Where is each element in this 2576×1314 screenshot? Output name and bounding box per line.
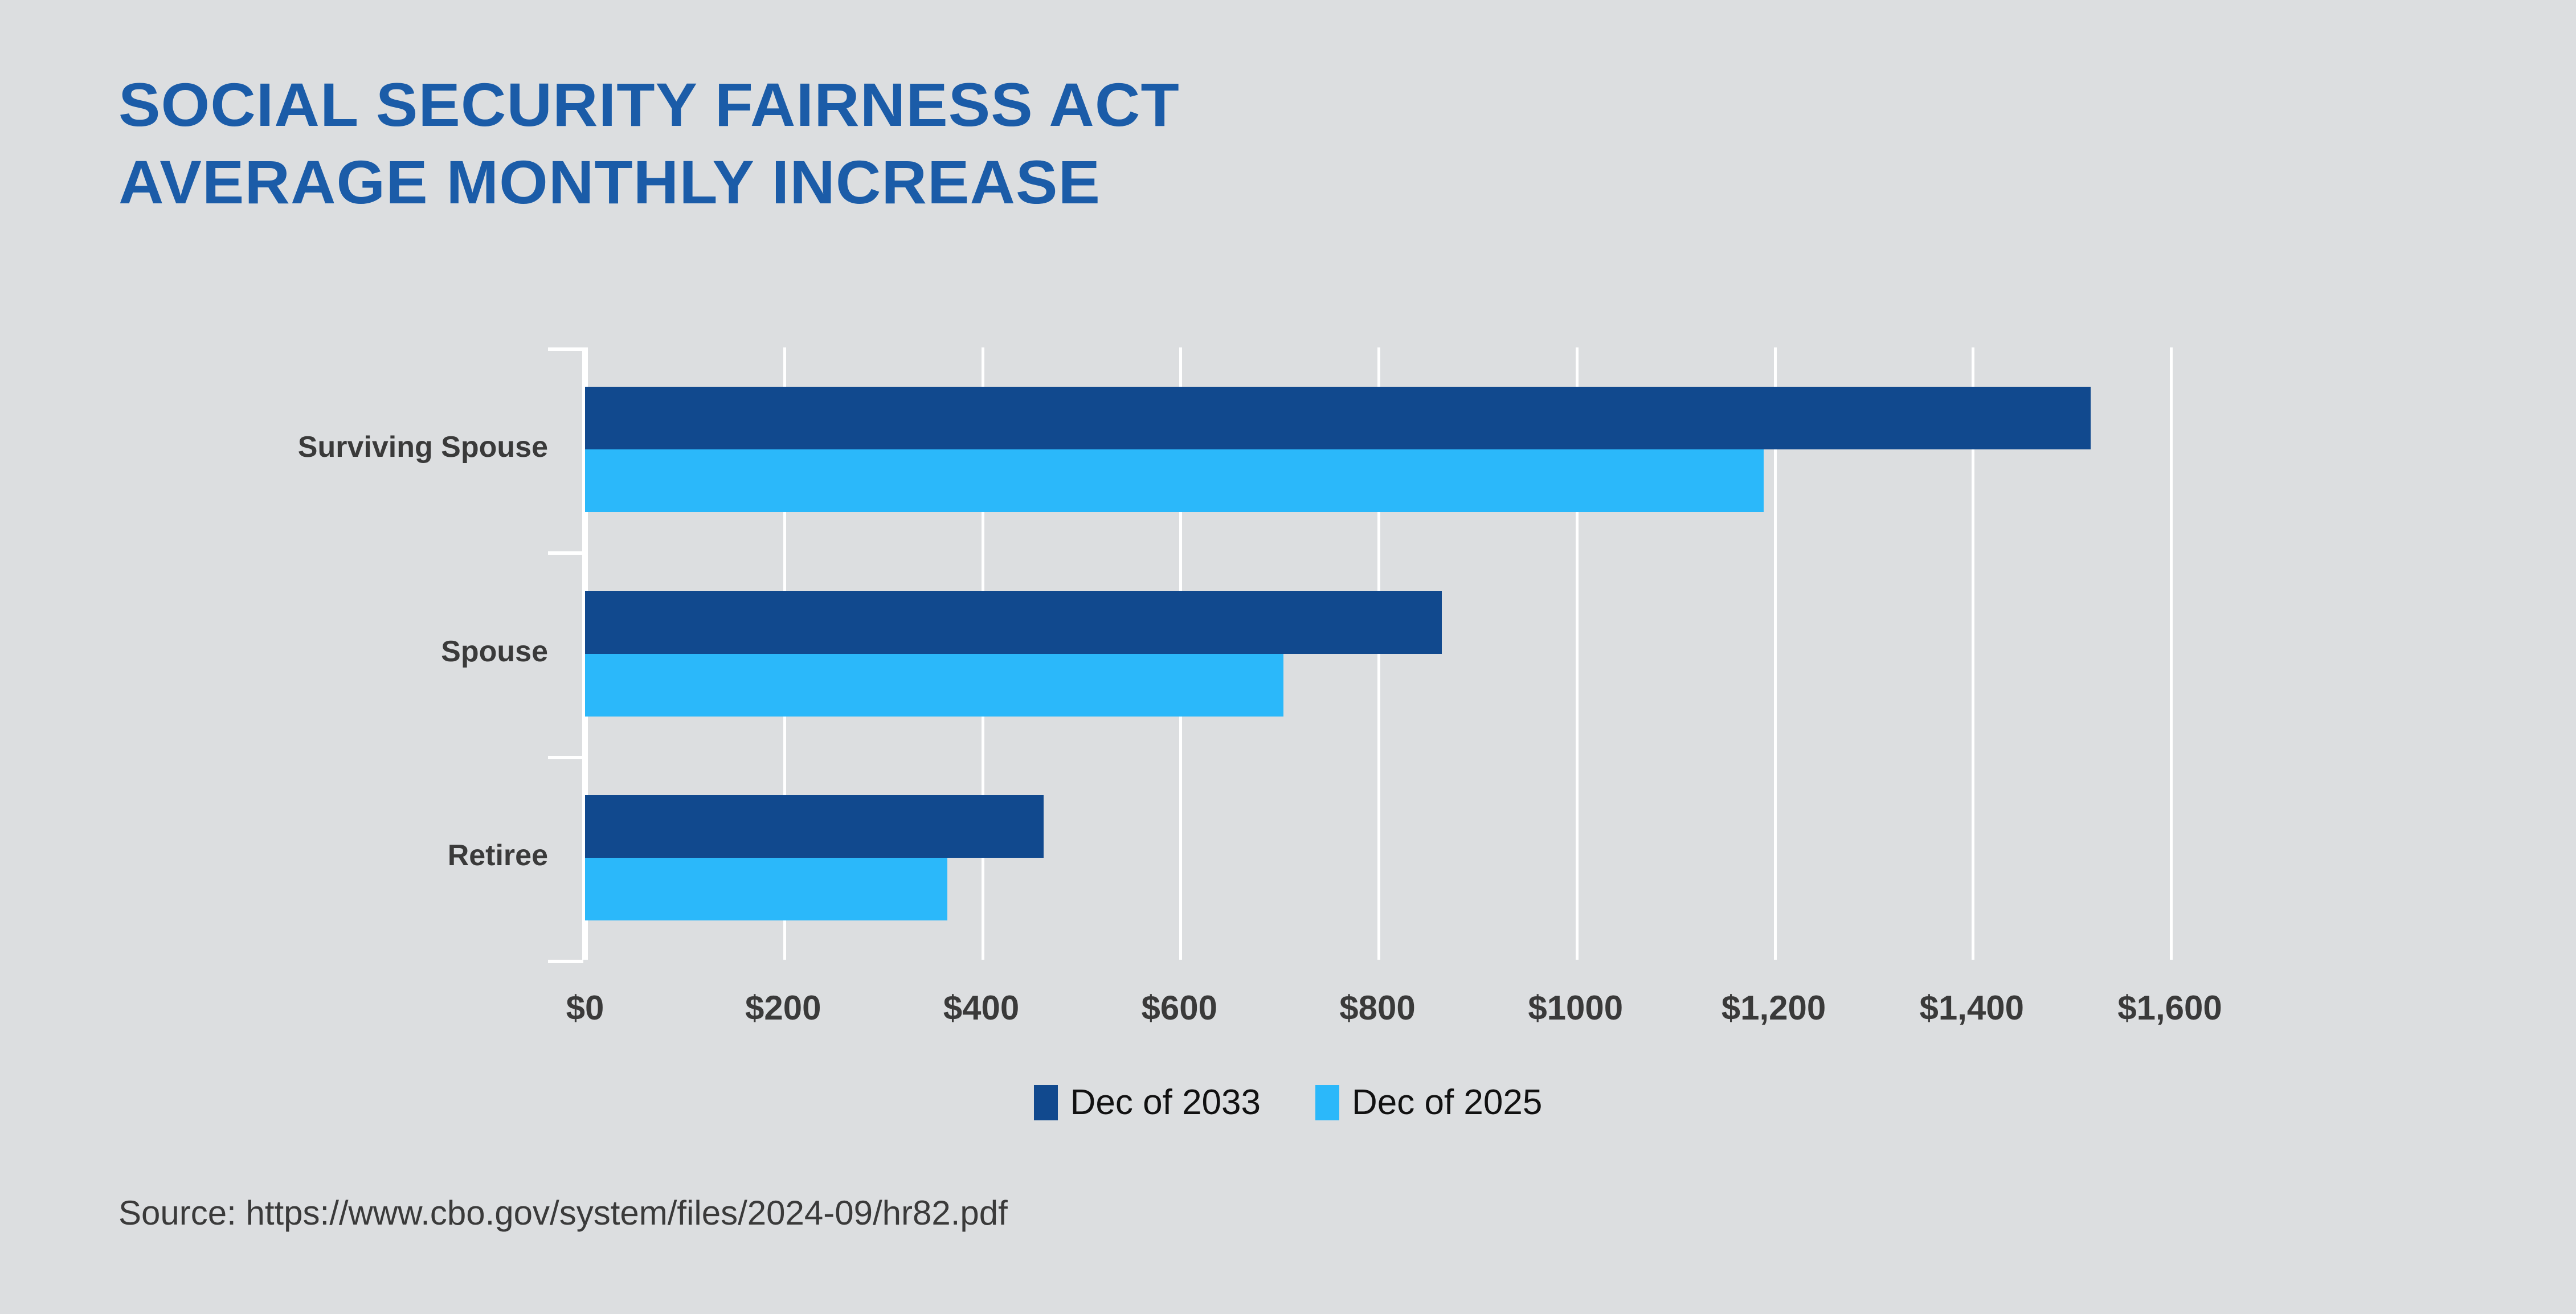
axis-tick-1 <box>548 551 583 555</box>
category-label-retiree: Retiree <box>0 838 548 873</box>
bar-spouse-dec-of-2033 <box>585 591 1442 654</box>
bar-retiree-dec-of-2025 <box>585 858 947 920</box>
legend-item-dec-of-2033[interactable]: Dec of 2033 <box>1034 1082 1261 1123</box>
x-tick-label-400: $400 <box>868 988 1095 1028</box>
axis-tick-3 <box>548 960 583 963</box>
x-tick-label-0: $0 <box>471 988 699 1028</box>
bar-surviving-spouse-dec-of-2025 <box>585 449 1764 512</box>
bar-chart: Surviving SpouseSpouseRetiree $0$200$400… <box>0 0 2576 1314</box>
gridline-1600 <box>2170 347 2173 960</box>
chart-legend: Dec of 2033Dec of 2025 <box>0 1082 2576 1123</box>
category-label-surviving-spouse: Surviving Spouse <box>0 430 548 464</box>
legend-swatch-icon-dark-blue <box>1034 1085 1058 1120</box>
legend-label: Dec of 2025 <box>1352 1082 1542 1123</box>
x-tick-label-1000: $1000 <box>1462 988 1690 1028</box>
bar-spouse-dec-of-2025 <box>585 654 1283 717</box>
x-tick-label-1400: $1,400 <box>1858 988 2086 1028</box>
bar-surviving-spouse-dec-of-2033 <box>585 387 2091 449</box>
bar-retiree-dec-of-2033 <box>585 795 1044 858</box>
x-tick-label-800: $800 <box>1264 988 1491 1028</box>
legend-label: Dec of 2033 <box>1070 1082 1261 1123</box>
x-tick-label-1600: $1,600 <box>2056 988 2284 1028</box>
axis-tick-0 <box>548 347 583 351</box>
x-tick-label-200: $200 <box>669 988 897 1028</box>
x-tick-label-1200: $1,200 <box>1660 988 1888 1028</box>
x-tick-label-600: $600 <box>1065 988 1293 1028</box>
source-note: Source: https://www.cbo.gov/system/files… <box>118 1193 1008 1233</box>
chart-page: SOCIAL SECURITY FAIRNESS ACT AVERAGE MON… <box>0 0 2576 1314</box>
category-label-spouse: Spouse <box>0 635 548 669</box>
legend-item-dec-of-2025[interactable]: Dec of 2025 <box>1315 1082 1542 1123</box>
legend-swatch-icon-light-blue <box>1315 1085 1339 1120</box>
axis-tick-2 <box>548 756 583 759</box>
